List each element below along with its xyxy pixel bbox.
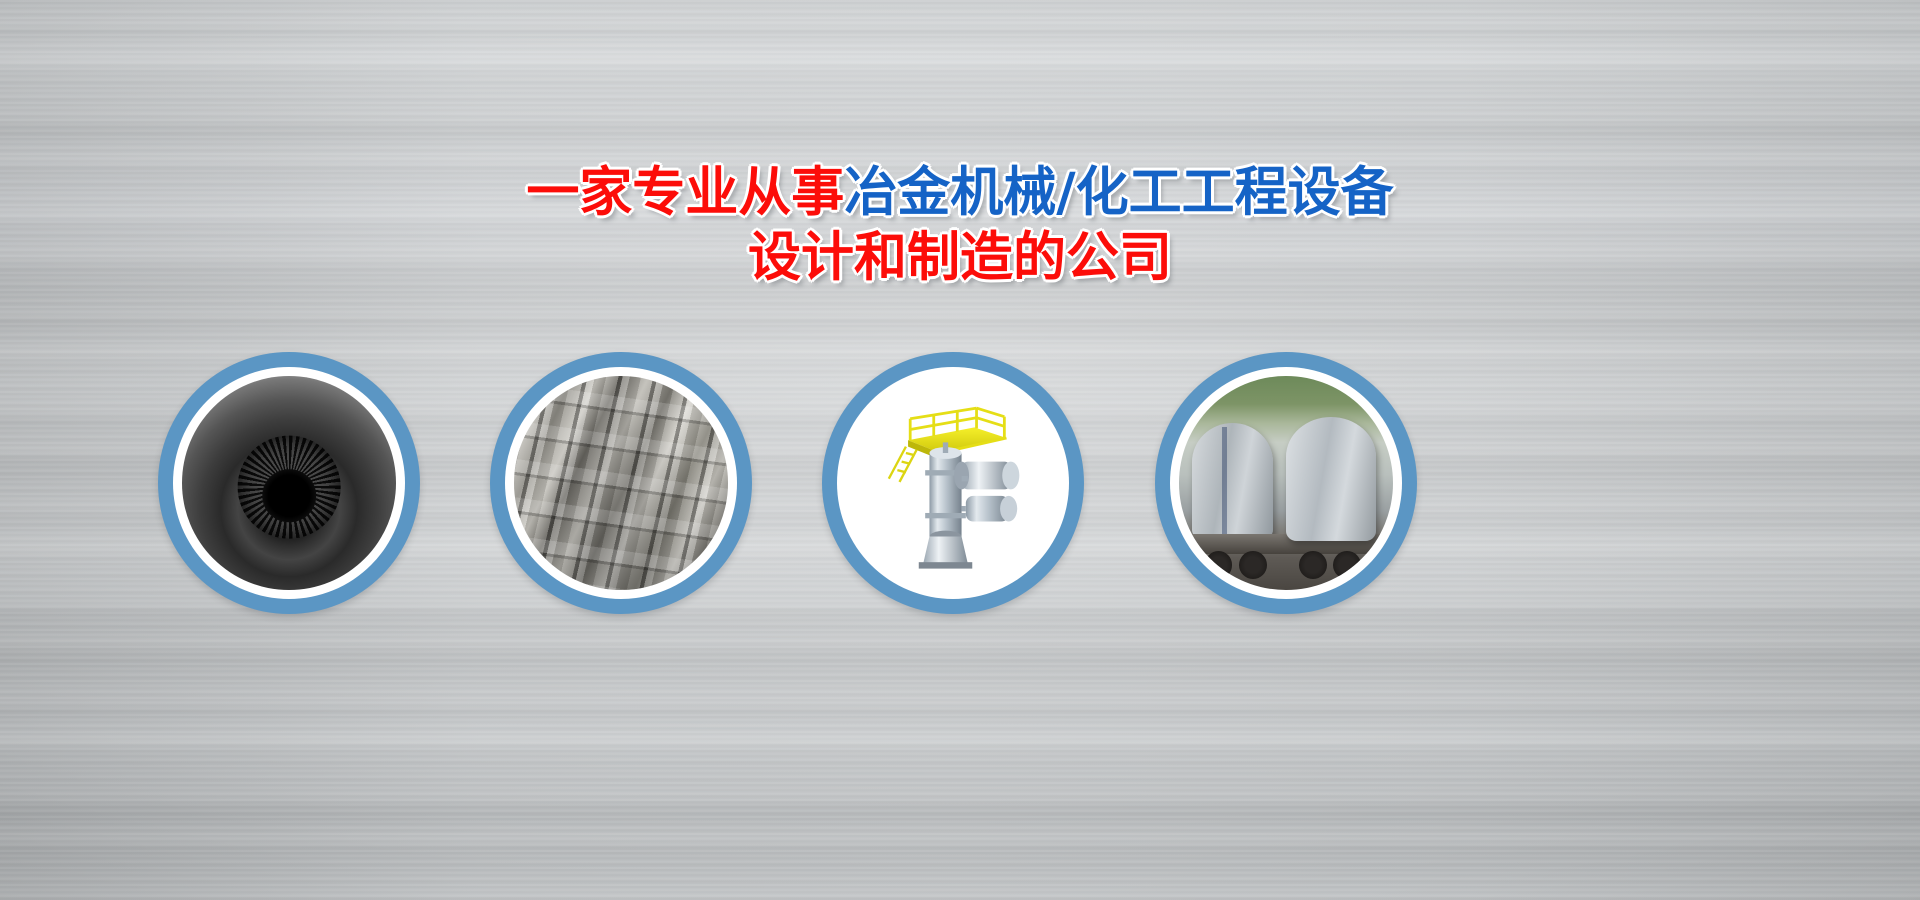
circle-thumb-chemical-reactor-render[interactable] xyxy=(822,352,1084,614)
reactor-column xyxy=(925,447,966,542)
headline: 一家专业从事冶金机械/化工工程设备 设计和制造的公司 xyxy=(0,160,1920,290)
trailer-details xyxy=(1179,376,1393,590)
circle-inner-white-ring xyxy=(173,367,405,599)
circle-thumbnail-row xyxy=(0,352,1920,622)
photo-chemical-reactor-render xyxy=(846,376,1060,590)
trailer-wheel xyxy=(1205,551,1233,579)
tank-strap xyxy=(1222,427,1227,534)
headline-line-2: 设计和制造的公司 xyxy=(0,225,1920,290)
circle-inner-white-ring xyxy=(1170,367,1402,599)
hero-banner: 一家专业从事冶金机械/化工工程设备 设计和制造的公司 xyxy=(0,0,1920,900)
trailer-bed xyxy=(1179,534,1393,553)
trailer-wheel xyxy=(1239,551,1267,579)
side-vessel xyxy=(954,462,1019,490)
circle-thumb-rolling-mill-line[interactable] xyxy=(490,352,752,614)
photo-metallurgical-converter xyxy=(182,376,396,590)
circle-thumb-metallurgical-converter[interactable] xyxy=(158,352,420,614)
photo-rolling-mill-line xyxy=(514,376,728,590)
headline-line-1: 一家专业从事冶金机械/化工工程设备 xyxy=(0,160,1920,225)
tank-strap xyxy=(1316,427,1321,534)
circle-thumb-storage-tanks-on-trailer[interactable] xyxy=(1155,352,1417,614)
headline-line2-red: 设计和制造的公司 xyxy=(748,227,1172,288)
headline-line1-red: 一家专业从事 xyxy=(526,162,844,223)
trailer-wheel xyxy=(1299,551,1327,579)
headline-line1-blue: 冶金机械/化工工程设备 xyxy=(844,162,1393,223)
reactor-render-svg xyxy=(846,376,1060,590)
lower-drum xyxy=(966,496,1017,522)
circle-inner-white-ring xyxy=(505,367,737,599)
reactor-base xyxy=(919,537,973,569)
circle-inner-white-ring xyxy=(837,367,1069,599)
trailer-wheel xyxy=(1333,551,1361,579)
photo-storage-tanks-on-trailer xyxy=(1179,376,1393,590)
